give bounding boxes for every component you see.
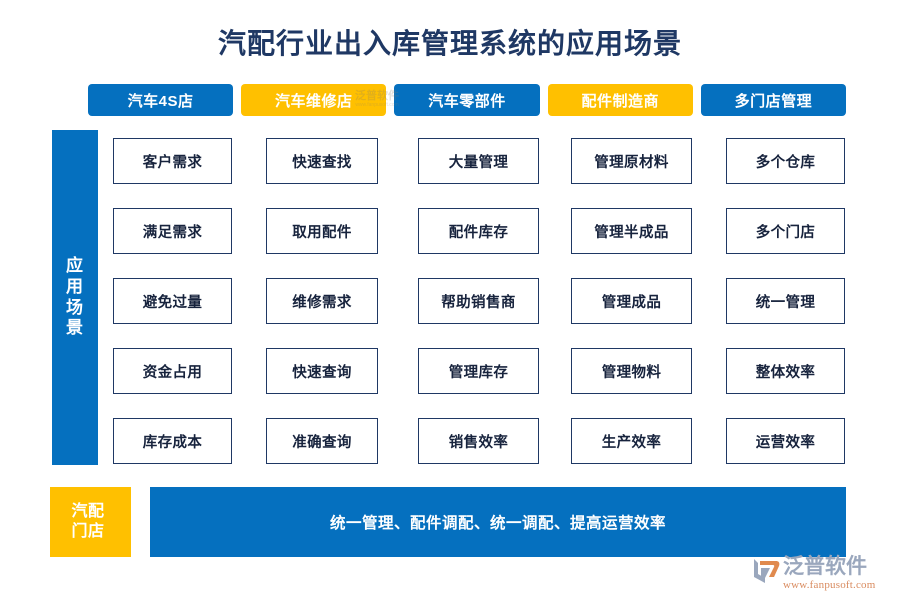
- grid-cell[interactable]: 管理半成品: [571, 208, 692, 254]
- logo-name: 泛普软件: [783, 556, 876, 578]
- grid-column-auto-parts: 大量管理 配件库存 帮助销售商 管理库存 销售效率: [418, 138, 539, 465]
- grid-cell[interactable]: 准确查询: [266, 418, 378, 464]
- footer-summary-label: 统一管理、配件调配、统一调配、提高运营效率: [330, 511, 666, 533]
- grid-cell[interactable]: 管理库存: [418, 348, 539, 394]
- grid-cell[interactable]: 多个仓库: [726, 138, 845, 184]
- grid-column-parts-manufacturer: 管理原材料 管理半成品 管理成品 管理物料 生产效率: [571, 138, 692, 465]
- grid-column-auto-4s-store: 客户需求 满足需求 避免过量 资金占用 库存成本: [113, 138, 232, 465]
- grid-cell[interactable]: 统一管理: [726, 278, 845, 324]
- grid-cell[interactable]: 销售效率: [418, 418, 539, 464]
- scenario-grid: 客户需求 满足需求 避免过量 资金占用 库存成本 快速查找 取用配件 维修需求 …: [113, 138, 846, 465]
- grid-cell[interactable]: 管理成品: [571, 278, 692, 324]
- grid-cell[interactable]: 管理原材料: [571, 138, 692, 184]
- sidebar-application-scenarios: 应用场景: [52, 130, 98, 465]
- grid-cell[interactable]: 多个门店: [726, 208, 845, 254]
- infographic-canvas: 汽配行业出入库管理系统的应用场景 汽车4S店 汽车维修店 汽车零部件 配件制造商…: [0, 0, 900, 600]
- grid-cell[interactable]: 运营效率: [726, 418, 845, 464]
- logo-text-wrap: 泛普软件 www.fanpusoft.com: [783, 556, 876, 592]
- fanpu-logo-icon: [752, 557, 782, 584]
- footer-tag-auto-parts-store: 汽配门店: [50, 487, 131, 557]
- tab-auto-4s-store[interactable]: 汽车4S店: [88, 84, 233, 116]
- grid-cell[interactable]: 快速查找: [266, 138, 378, 184]
- grid-cell[interactable]: 整体效率: [726, 348, 845, 394]
- grid-cell[interactable]: 大量管理: [418, 138, 539, 184]
- footer-summary-bar: 统一管理、配件调配、统一调配、提高运营效率: [150, 487, 846, 557]
- grid-column-multi-store-mgmt: 多个仓库 多个门店 统一管理 整体效率 运营效率: [726, 138, 845, 465]
- tab-auto-repair-shop[interactable]: 汽车维修店: [241, 84, 386, 116]
- grid-cell[interactable]: 帮助销售商: [418, 278, 539, 324]
- tab-parts-manufacturer[interactable]: 配件制造商: [548, 84, 693, 116]
- grid-cell[interactable]: 取用配件: [266, 208, 378, 254]
- sidebar-label: 应用场景: [65, 256, 85, 339]
- grid-cell[interactable]: 快速查询: [266, 348, 378, 394]
- grid-column-auto-repair-shop: 快速查找 取用配件 维修需求 快速查询 准确查询: [266, 138, 378, 465]
- category-tab-row: 汽车4S店 汽车维修店 汽车零部件 配件制造商 多门店管理: [88, 84, 846, 116]
- logo-url: www.fanpusoft.com: [783, 579, 876, 592]
- grid-cell[interactable]: 满足需求: [113, 208, 232, 254]
- page-title: 汽配行业出入库管理系统的应用场景: [0, 22, 900, 62]
- footer-tag-label: 汽配门店: [72, 502, 110, 543]
- brand-logo: 泛普软件 www.fanpusoft.com: [752, 556, 892, 596]
- grid-cell[interactable]: 配件库存: [418, 208, 539, 254]
- grid-cell[interactable]: 客户需求: [113, 138, 232, 184]
- grid-cell[interactable]: 维修需求: [266, 278, 378, 324]
- tab-multi-store-mgmt[interactable]: 多门店管理: [701, 84, 846, 116]
- grid-cell[interactable]: 库存成本: [113, 418, 232, 464]
- grid-cell[interactable]: 生产效率: [571, 418, 692, 464]
- grid-cell[interactable]: 资金占用: [113, 348, 232, 394]
- tab-auto-parts[interactable]: 汽车零部件: [394, 84, 539, 116]
- grid-cell[interactable]: 避免过量: [113, 278, 232, 324]
- grid-cell[interactable]: 管理物料: [571, 348, 692, 394]
